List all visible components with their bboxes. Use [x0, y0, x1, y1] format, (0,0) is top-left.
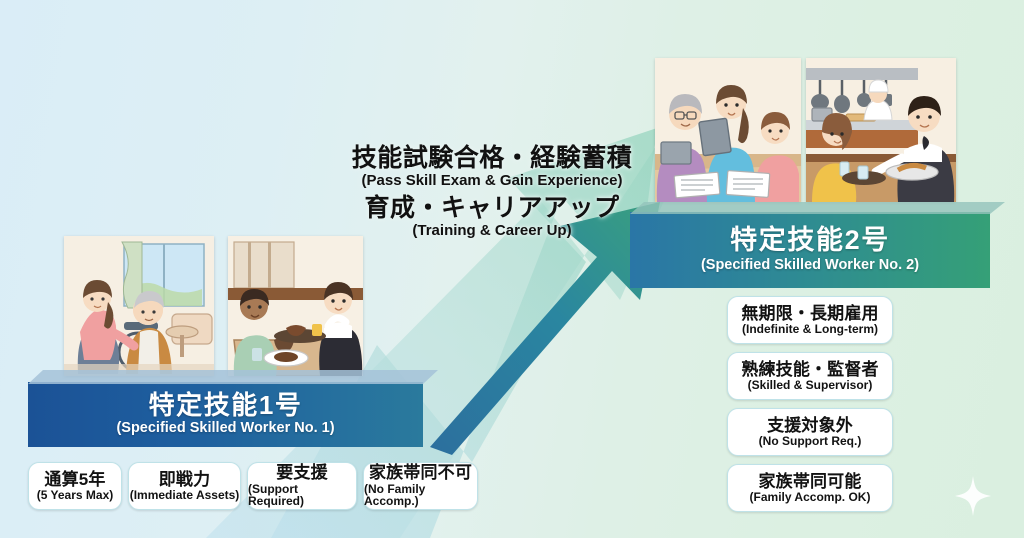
stage-one-badge-3: 要支援 (Support Required): [247, 462, 357, 510]
illustration-caregiver-with-elderly-in-wheelchair: [64, 236, 214, 376]
stage-one-title-bar: 特定技能1号 (Specified Skilled Worker No. 1): [28, 382, 423, 447]
stage-one-badge-1-en: (5 Years Max): [37, 489, 114, 502]
stage-one-badge-2-jp: 即戦力: [159, 471, 211, 488]
stage-one-badge-2-en: (Immediate Assets): [130, 489, 240, 502]
stage-two-badge-4-en: (Family Accomp. OK): [750, 491, 871, 504]
stage-one-badge-3-jp: 要支援: [276, 464, 328, 481]
sparkle-icon: [955, 476, 991, 516]
stage-two-badge-4: 家族帯同可能 (Family Accomp. OK): [727, 464, 893, 512]
stage-two-badge-3-jp: 支援対象外: [767, 417, 853, 434]
infographic-root: 特定技能1号 (Specified Skilled Worker No. 1) …: [0, 0, 1024, 538]
transition-line-1-en: (Pass Skill Exam & Gain Experience): [332, 173, 652, 189]
illustration-head-waiter-serving-in-kitchen: [806, 58, 956, 202]
transition-line-2-en: (Training & Career Up): [332, 223, 652, 239]
stage-two-bar-bevel: [630, 202, 1005, 214]
illustration-supervisor-briefing-staff-with-documents: [655, 58, 801, 202]
stage-one-badge-1-jp: 通算5年: [44, 471, 105, 488]
stage-two-badge-4-jp: 家族帯同可能: [758, 473, 861, 490]
transition-line-1-jp: 技能試験合格・経験蓄積: [332, 145, 652, 172]
stage-two-title-bar: 特定技能2号 (Specified Skilled Worker No. 2): [630, 212, 990, 288]
stage-one-badge-4-jp: 家族帯同不可: [369, 464, 472, 481]
stage-two-badge-2-jp: 熟練技能・監督者: [741, 361, 878, 378]
stage-two-badge-1: 無期限・長期雇用 (Indefinite & Long-term): [727, 296, 893, 344]
transition-line-2-jp: 育成・キャリアアップ: [332, 195, 652, 222]
stage-two-badge-1-en: (Indefinite & Long-term): [742, 323, 878, 336]
stage-one-badge-2: 即戦力 (Immediate Assets): [128, 462, 241, 510]
stage-one-badge-1: 通算5年 (5 Years Max): [28, 462, 122, 510]
illustration-restaurant-server-serving-meal: [228, 236, 363, 376]
stage-one-badge-4-en: (No Family Accomp.): [364, 483, 477, 508]
stage-two-badge-1-jp: 無期限・長期雇用: [741, 305, 878, 322]
stage-one-bar-bevel: [28, 370, 438, 384]
stage-one-title-en: (Specified Skilled Worker No. 1): [116, 421, 334, 437]
stage-two-title-jp: 特定技能2号: [730, 226, 890, 254]
transition-headline: 技能試験合格・経験蓄積 (Pass Skill Exam & Gain Expe…: [332, 145, 652, 246]
stage-one-badge-4: 家族帯同不可 (No Family Accomp.): [363, 462, 478, 510]
stage-two-badge-2-en: (Skilled & Supervisor): [748, 379, 873, 392]
stage-two-title-en: (Specified Skilled Worker No. 2): [701, 258, 919, 274]
stage-one-badge-3-en: (Support Required): [248, 483, 356, 508]
stage-two-badge-2: 熟練技能・監督者 (Skilled & Supervisor): [727, 352, 893, 400]
stage-one-title-jp: 特定技能1号: [149, 392, 303, 419]
stage-two-badge-3: 支援対象外 (No Support Req.): [727, 408, 893, 456]
stage-two-badge-3-en: (No Support Req.): [759, 435, 862, 448]
